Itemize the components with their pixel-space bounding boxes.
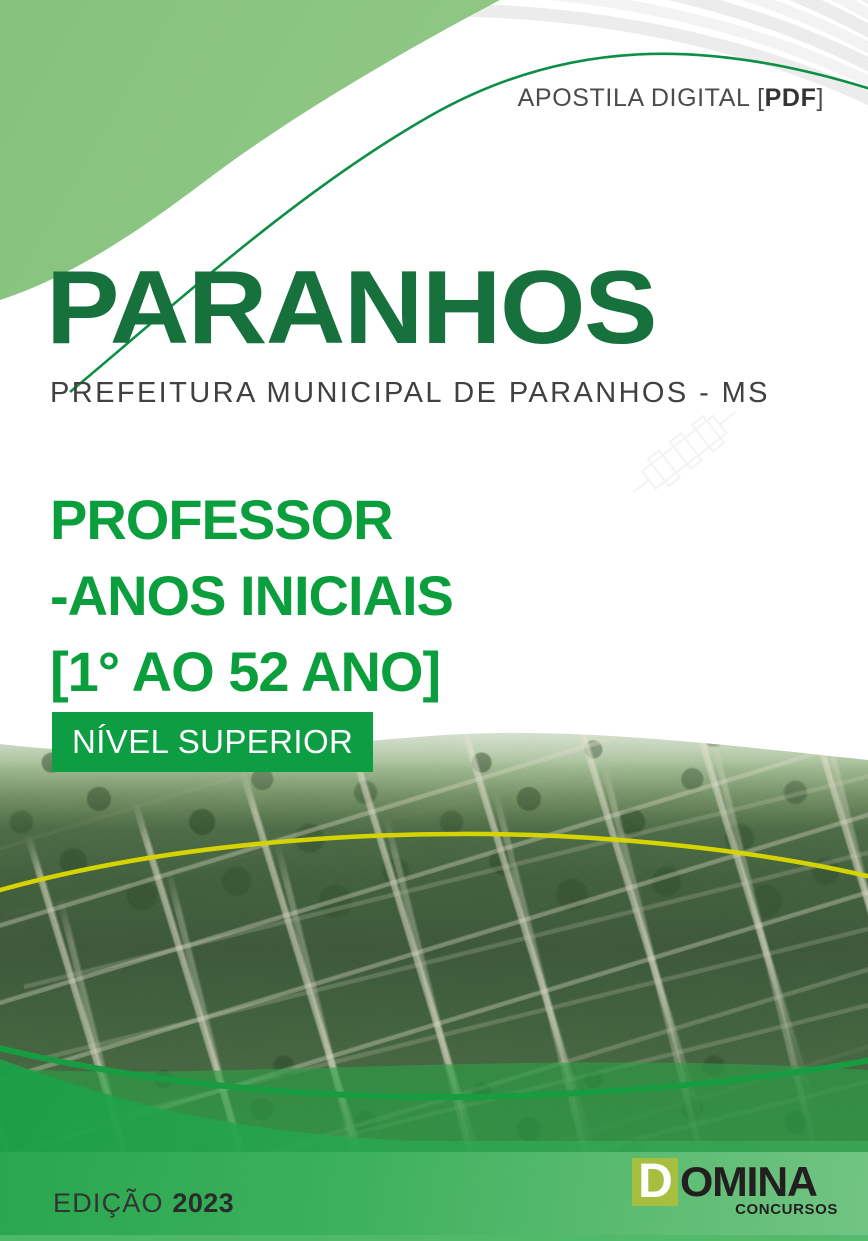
logo-tagline: CONCURSOS	[735, 1202, 838, 1218]
edition-year: 2023	[172, 1188, 234, 1218]
edition-label: EDIÇÃO 2023	[53, 1190, 234, 1217]
logo-wordmark: OMINA	[680, 1158, 817, 1206]
domina-logo: D OMINA CONCURSOS	[632, 1158, 840, 1226]
faint-watermark	[600, 405, 770, 500]
apostila-suffix: ]	[816, 84, 824, 112]
apostila-digital-label: APOSTILA DIGITAL [PDF]	[518, 84, 824, 113]
city-subtitle: PREFEITURA MUNICIPAL DE PARANHOS - MS	[50, 377, 770, 409]
position-line-2: -ANOS INICIAIS	[50, 558, 453, 634]
position-line-1: PROFESSOR	[50, 482, 453, 558]
apostila-prefix: APOSTILA DIGITAL [	[518, 84, 765, 112]
city-title: PARANHOS	[46, 256, 656, 360]
bottom-edge-strip	[0, 1235, 868, 1241]
logo-initial: D	[632, 1158, 678, 1206]
position-line-3: [1° AO 52 ANO]	[50, 634, 453, 710]
apostila-cover: APOSTILA DIGITAL [PDF] PARANHOS PREFEITU…	[0, 0, 868, 1241]
edition-word: EDIÇÃO	[53, 1188, 164, 1218]
position-title: PROFESSOR -ANOS INICIAIS [1° AO 52 ANO]	[50, 482, 453, 710]
pdf-badge-text: PDF	[765, 84, 817, 112]
level-badge: NÍVEL SUPERIOR	[52, 712, 373, 772]
